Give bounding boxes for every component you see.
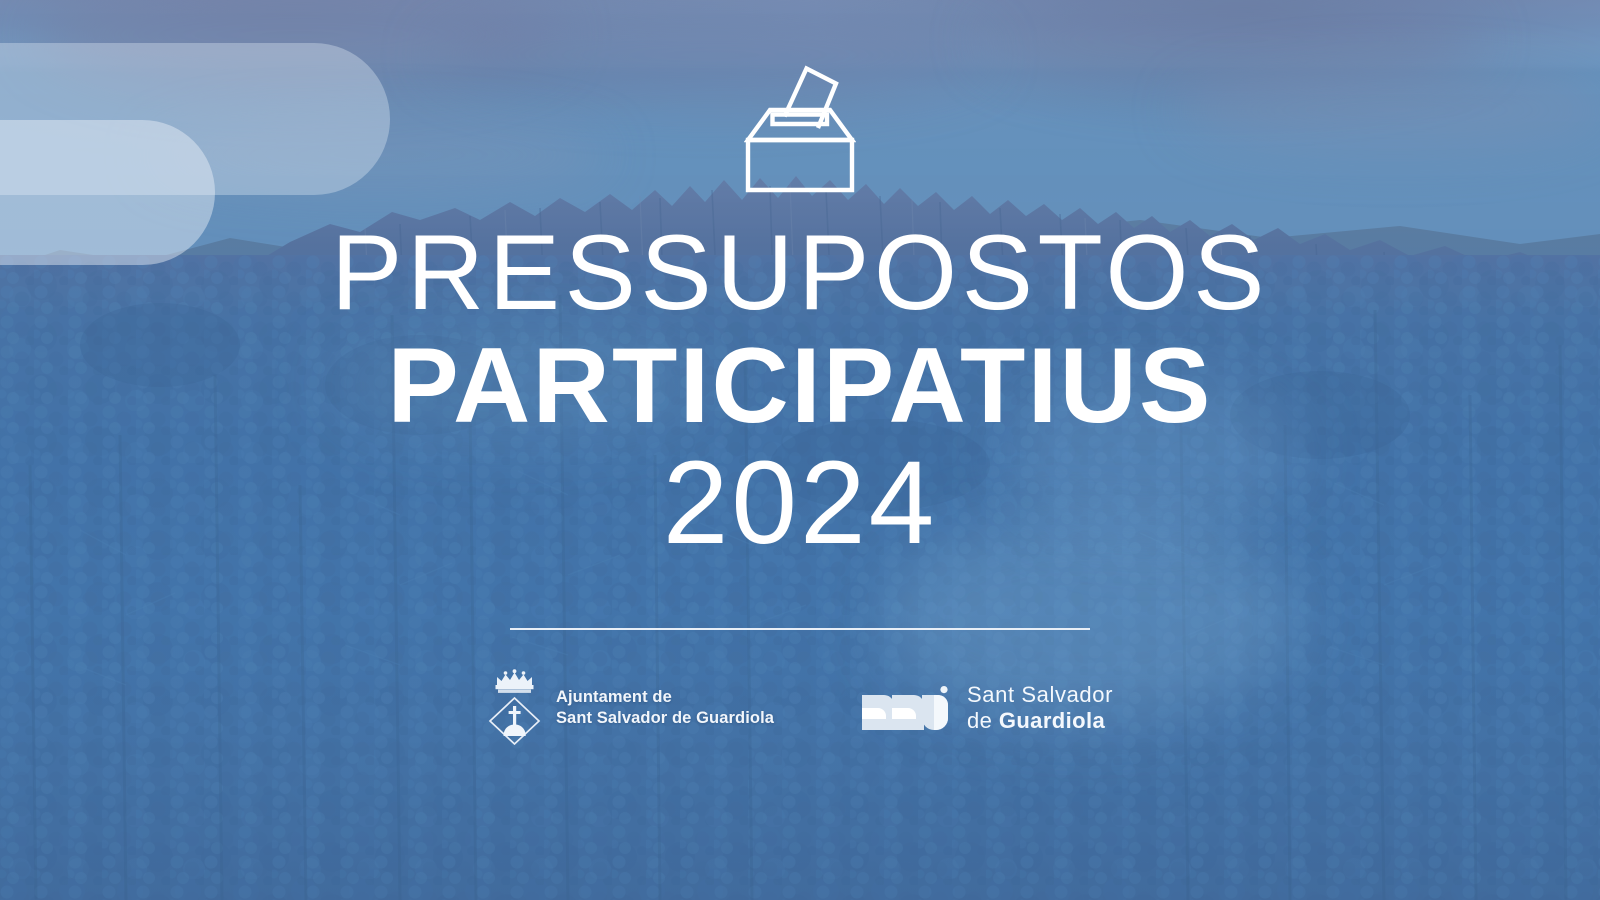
poster-title: PRESSUPOSTOS PARTICIPATIUS 2024 (250, 220, 1350, 562)
ssg-monogram-icon (860, 686, 954, 730)
poster-content: PRESSUPOSTOS PARTICIPATIUS 2024 (0, 0, 1600, 900)
title-line-2: PARTICIPATIUS (250, 331, 1350, 440)
logo-row: Ajuntament de Sant Salvador de Guardiola (487, 668, 1113, 748)
ajuntament-crest-icon (487, 668, 545, 748)
ssg-line-2-bold: Guardiola (999, 708, 1105, 733)
title-line-3: 2024 (250, 444, 1350, 562)
ssg-logo: Sant Salvador de Guardiola (860, 682, 1113, 733)
ajuntament-logo: Ajuntament de Sant Salvador de Guardiola (487, 668, 774, 748)
divider-rule (510, 628, 1090, 630)
ajuntament-text: Ajuntament de Sant Salvador de Guardiola (556, 687, 774, 730)
title-line-1: PRESSUPOSTOS (250, 220, 1350, 325)
ssg-line-2-light: de (967, 708, 999, 733)
ssg-line-1: Sant Salvador (967, 682, 1113, 708)
ssg-text: Sant Salvador de Guardiola (967, 682, 1113, 733)
poster-canvas: PRESSUPOSTOS PARTICIPATIUS 2024 (0, 0, 1600, 900)
ballot-box-icon (744, 62, 856, 194)
ajuntament-line-1: Ajuntament de (556, 687, 774, 708)
ssg-line-2: de Guardiola (967, 708, 1113, 734)
ajuntament-line-2: Sant Salvador de Guardiola (556, 708, 774, 729)
